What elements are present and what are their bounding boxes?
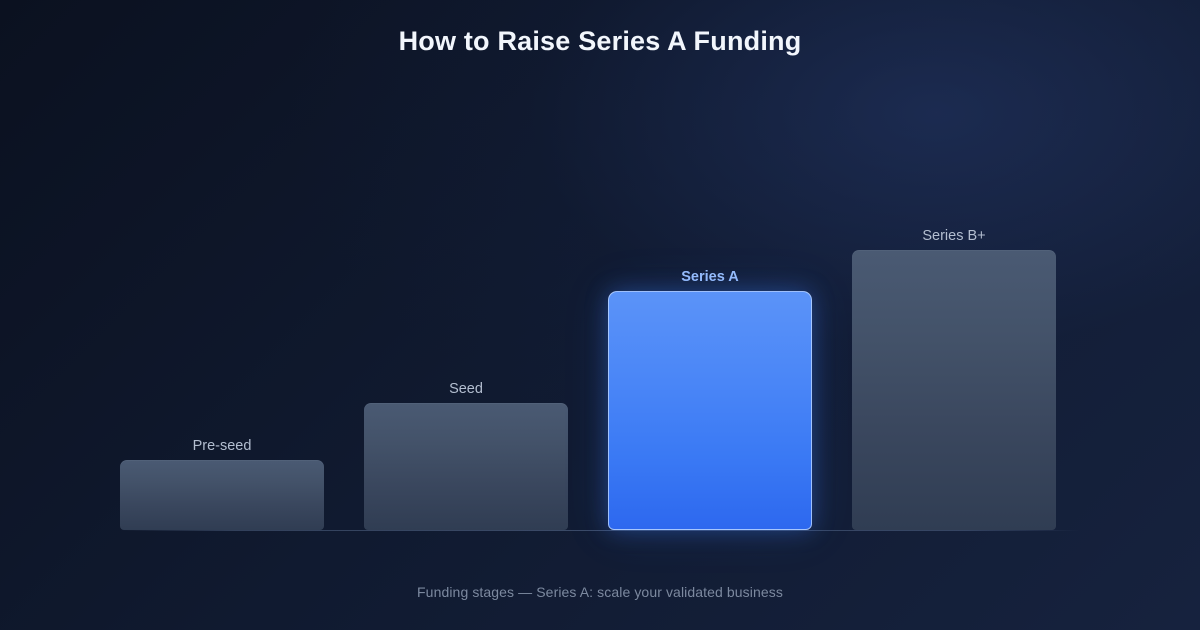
bar-chart-plot-area: Pre-seed Seed Series A Series B+	[0, 0, 1200, 630]
chart-baseline	[120, 530, 1080, 531]
bar-series-b-plus[interactable]	[852, 250, 1056, 530]
bar-series-a[interactable]	[608, 291, 812, 530]
bar-label-pre-seed: Pre-seed	[120, 438, 324, 454]
bar-label-seed: Seed	[364, 381, 568, 397]
chart-caption: Funding stages — Series A: scale your va…	[0, 584, 1200, 600]
bar-group-pre-seed[interactable]: Pre-seed	[120, 438, 324, 530]
bar-label-series-b-plus: Series B+	[852, 228, 1056, 244]
bar-group-series-b-plus[interactable]: Series B+	[852, 228, 1056, 530]
bar-seed[interactable]	[364, 403, 568, 530]
bar-group-series-a[interactable]: Series A	[608, 269, 812, 530]
chart-canvas: How to Raise Series A Funding Pre-seed S…	[0, 0, 1200, 630]
bar-group-seed[interactable]: Seed	[364, 381, 568, 530]
bar-pre-seed[interactable]	[120, 460, 324, 530]
bar-label-series-a: Series A	[608, 269, 812, 285]
